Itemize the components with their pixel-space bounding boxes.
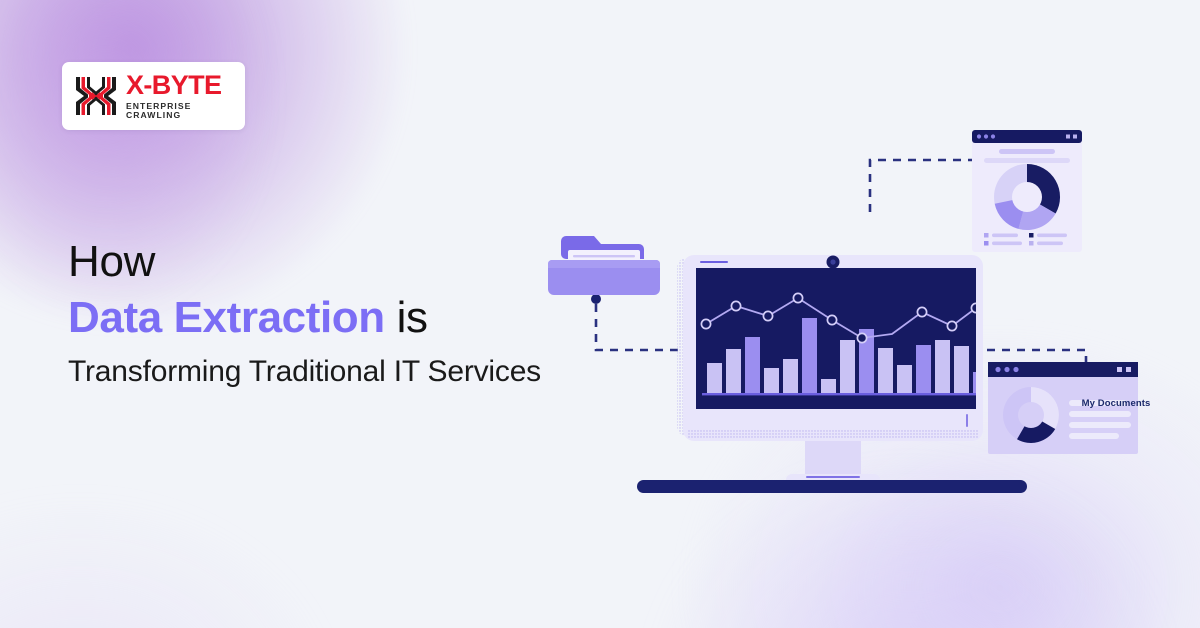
- window-dots-icon: [977, 134, 995, 138]
- logo-wordmark: X-BYTE ENTERPRISE CRAWLING: [126, 72, 245, 119]
- connector-dot-folder: [591, 294, 601, 304]
- window-dots-icon: [995, 367, 1018, 372]
- logo-title: X-BYTE: [126, 70, 221, 100]
- logo-card[interactable]: X-BYTE ENTERPRISE CRAWLING: [62, 62, 245, 130]
- my-documents-label: My Documents: [1076, 398, 1156, 409]
- headline-accent-text: Data Extraction: [68, 293, 385, 342]
- my-documents-folder: [548, 236, 660, 295]
- headline-line-3: Transforming Traditional IT Services: [68, 354, 541, 390]
- monitor-base-bar: [637, 480, 1027, 493]
- donut-chart: [994, 164, 1060, 230]
- browser-card-donut-top: [972, 130, 1082, 252]
- headline-block: How Data Extraction is Transforming Trad…: [68, 236, 541, 390]
- headline-line-2-suffix: is: [385, 293, 428, 342]
- data-extraction-illustration: My Documents: [520, 100, 1180, 520]
- donut-chart: [1003, 387, 1059, 443]
- background-wave-bottom-left: [0, 498, 340, 628]
- x-mark-icon: [74, 75, 118, 117]
- headline-line-1: How: [68, 236, 541, 287]
- hero-banner: X-BYTE ENTERPRISE CRAWLING How Data Extr…: [0, 0, 1200, 628]
- desktop-monitor: [637, 255, 1027, 493]
- logo-subtitle: ENTERPRISE CRAWLING: [126, 102, 245, 119]
- headline-line-2: Data Extraction is: [68, 292, 541, 343]
